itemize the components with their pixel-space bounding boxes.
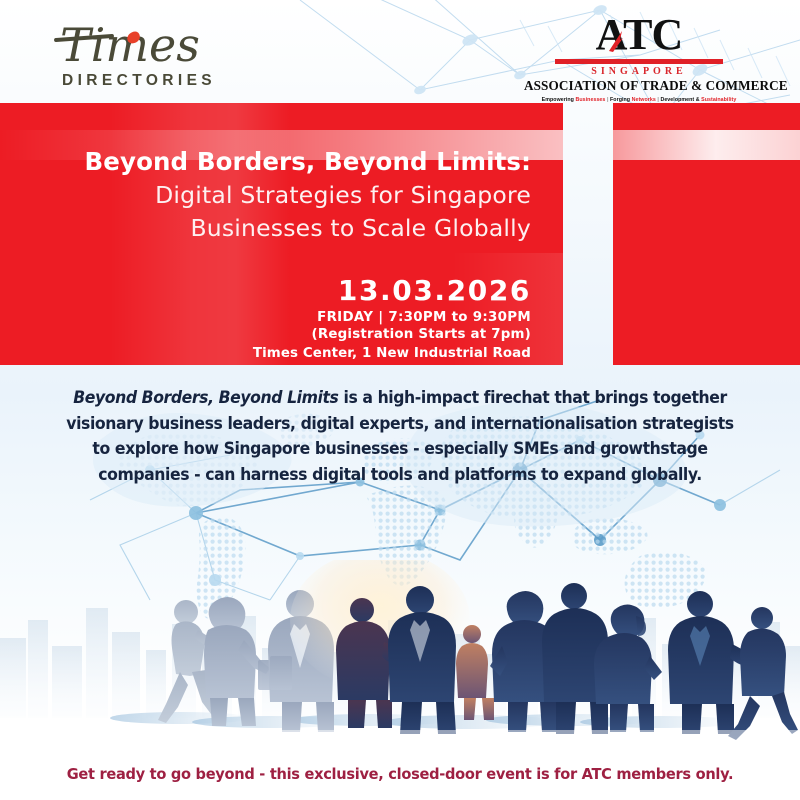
event-venue: Times Center, 1 New Industrial Road — [0, 345, 531, 363]
footer-bar: Get ready to go beyond - this exclusive,… — [0, 756, 800, 800]
event-date: 13.03.2026 — [0, 275, 531, 307]
banner-gradient-stripe-right — [613, 130, 800, 160]
event-poster: Times DIRECTORIES ATC SINGAPORE ASSOCIAT… — [0, 0, 800, 800]
atc-full-name: ASSOCIATION OF TRADE & COMMERCE — [524, 78, 754, 94]
times-logo-subtitle: DIRECTORIES — [62, 72, 216, 90]
atc-underline — [555, 59, 723, 64]
event-description: Beyond Borders, Beyond Limits is a high-… — [60, 385, 740, 487]
event-title-line-1: Beyond Borders, Beyond Limits: — [0, 145, 531, 179]
atc-arrow-icon — [607, 29, 625, 53]
event-title-line-3: Businesses to Scale Globally — [0, 212, 531, 245]
event-details: 13.03.2026 FRIDAY | 7:30PM to 9:30PM (Re… — [0, 275, 531, 363]
times-logo-wordmark: Times — [60, 22, 200, 68]
event-title: Beyond Borders, Beyond Limits: Digital S… — [0, 145, 531, 245]
banner-panel-right — [613, 103, 800, 365]
times-directories-logo: Times DIRECTORIES — [48, 20, 268, 90]
event-description-lede: Beyond Borders, Beyond Limits — [73, 388, 338, 407]
event-banner: Beyond Borders, Beyond Limits: Digital S… — [0, 103, 800, 365]
atc-acronym-wrap: ATC — [596, 14, 683, 58]
footer-note: Get ready to go beyond - this exclusive,… — [16, 765, 784, 783]
event-title-line-2: Digital Strategies for Singapore — [0, 179, 531, 212]
business-people-silhouettes-icon — [0, 560, 800, 756]
event-registration-note: (Registration Starts at 7pm) — [0, 326, 531, 343]
event-day-time: FRIDAY | 7:30PM to 9:30PM — [0, 309, 531, 326]
atc-country: SINGAPORE — [524, 66, 754, 77]
atc-logo: ATC SINGAPORE ASSOCIATION OF TRADE & COM… — [524, 14, 754, 92]
